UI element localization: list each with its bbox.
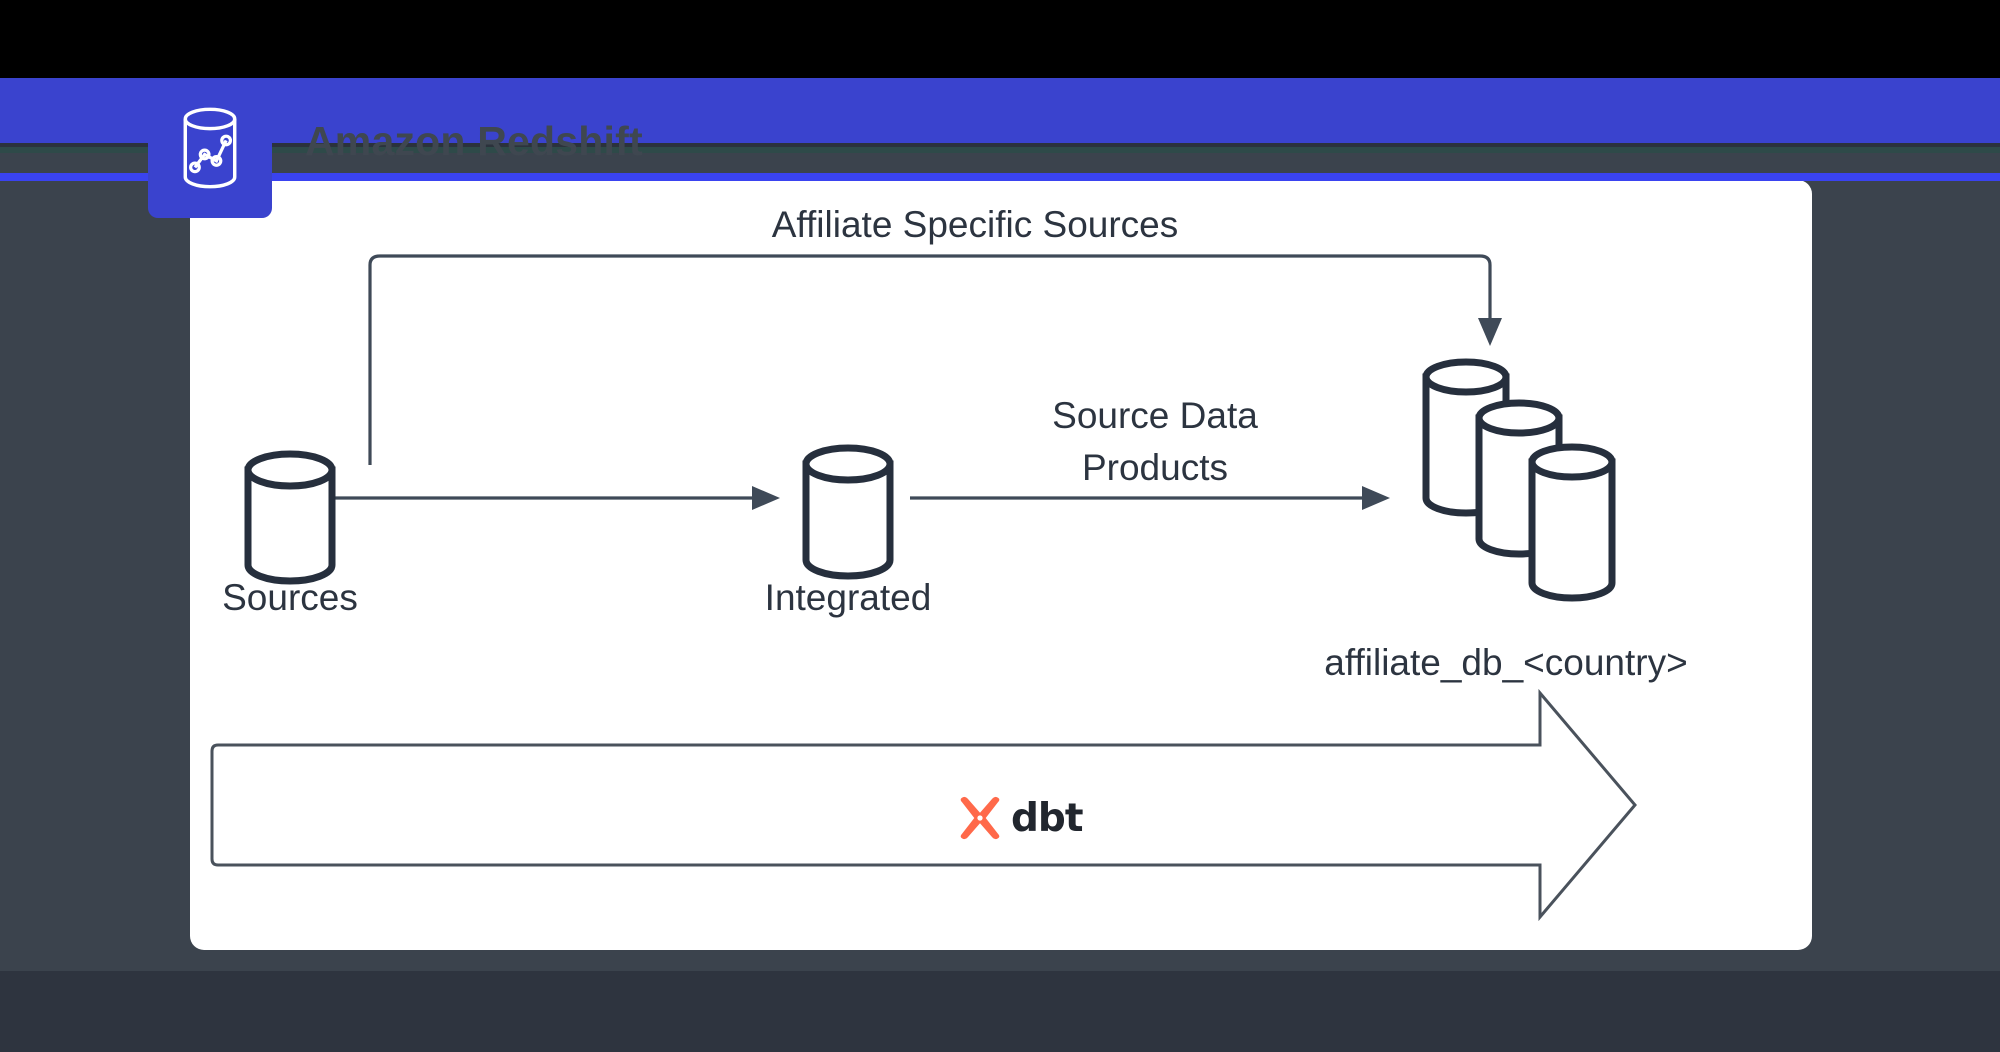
edge-label-source-data-line2: Products [1082,447,1228,488]
screenshot-root: Affiliate Specific Sources Source Data P… [0,0,2000,1052]
node-label-affiliate-db: affiliate_db_<country> [1324,642,1687,683]
edge-affiliate-specific-sources [370,256,1502,465]
node-label-sources: Sources [222,577,358,618]
node-affiliate-db-cylinder-stack[interactable] [1426,362,1612,598]
top-black-band [0,0,2000,78]
edge-integrated-affiliate [910,486,1390,510]
dbt-wordmark: dbt [1011,799,1082,838]
redshift-database-icon [175,105,245,191]
edge-label-source-data-line1: Source Data [1052,395,1258,436]
node-integrated-cylinder[interactable] [806,448,890,576]
page-title: Amazon Redshift [305,118,643,165]
node-sources-cylinder[interactable] [248,454,332,581]
dbt-logo-icon [958,796,1002,840]
blue-header-bar [0,78,2000,143]
dbt-logo: dbt [958,796,1082,840]
node-label-integrated: Integrated [765,577,932,618]
header-divider-c [0,153,2000,173]
edge-label-affiliate-specific-sources: Affiliate Specific Sources [772,204,1179,245]
edge-sources-integrated [323,486,780,510]
dbt-process-arrow [212,693,1635,917]
redshift-icon-badge [148,78,272,218]
